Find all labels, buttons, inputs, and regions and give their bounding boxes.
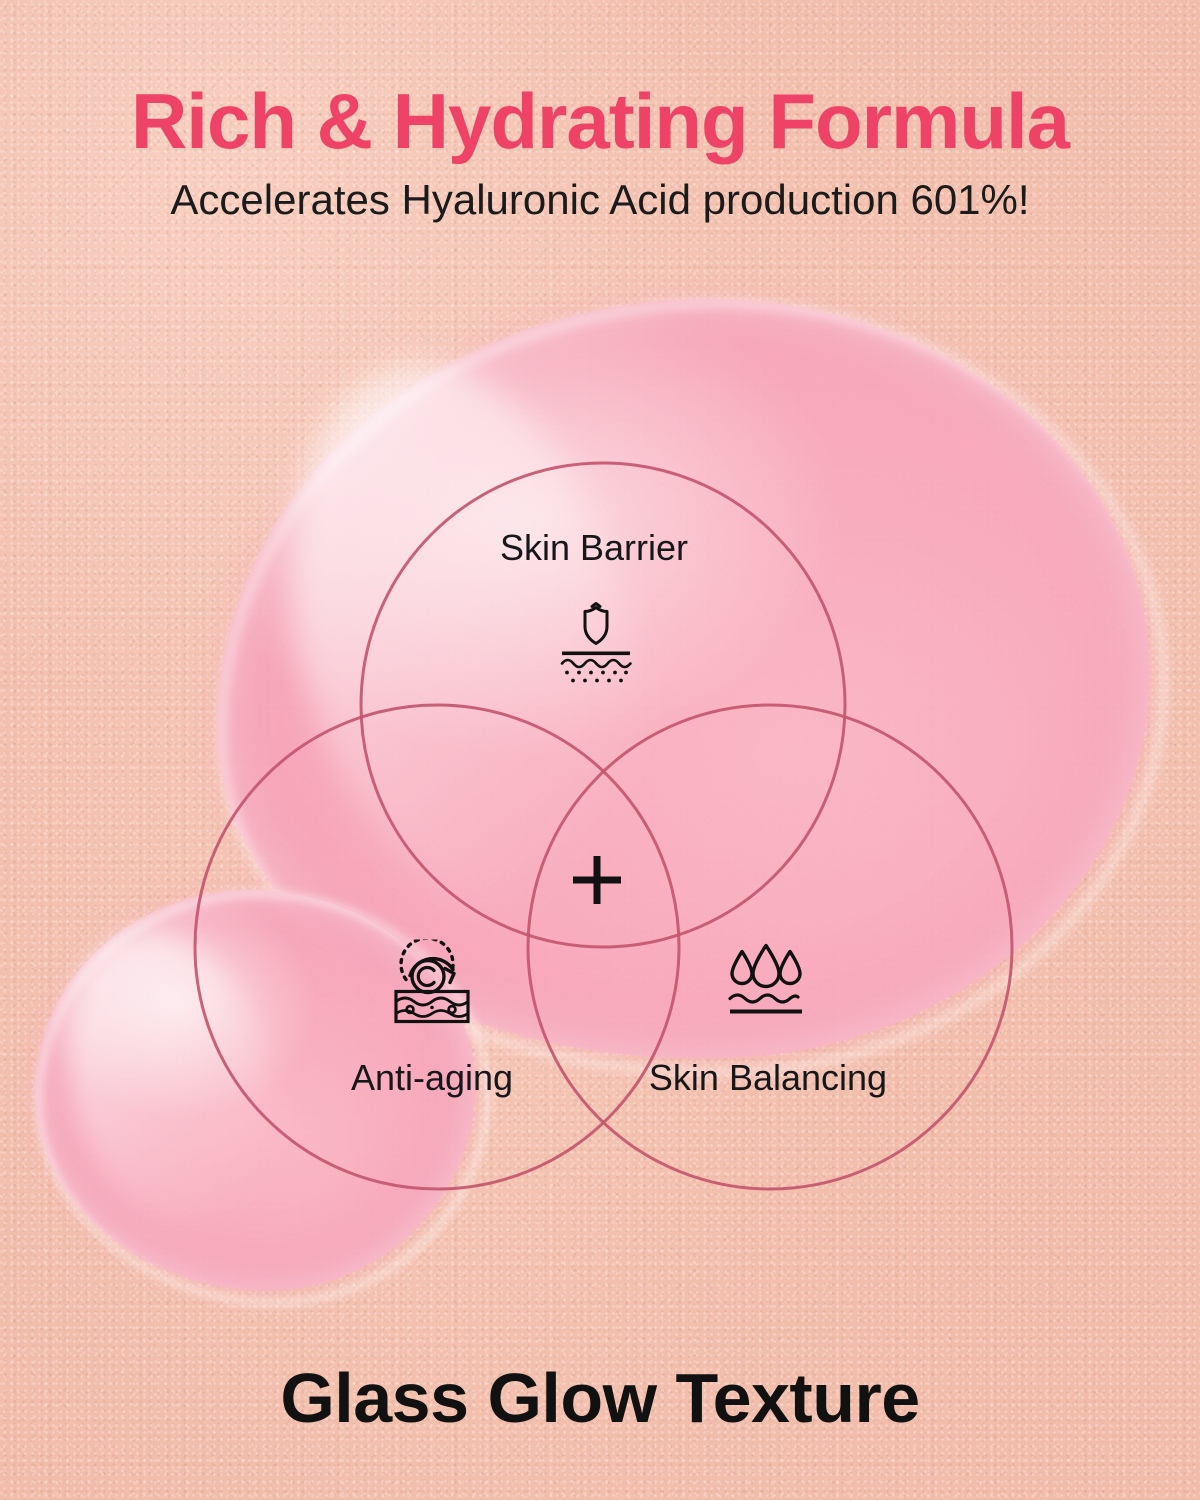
page-subtitle: Accelerates Hyaluronic Acid production 6… [0, 176, 1200, 224]
plus-icon [569, 852, 625, 908]
shield-over-skin-layers-icon [550, 602, 642, 689]
footer-caption: Glass Glow Texture [0, 1358, 1200, 1438]
venn-label-anti-aging: Anti-aging [351, 1057, 513, 1099]
water-droplets-over-skin-icon [722, 944, 810, 1027]
venn-label-skin-balancing: Skin Balancing [649, 1057, 887, 1099]
collagen-renewal-skin-icon [386, 940, 478, 1031]
venn-label-skin-barrier: Skin Barrier [500, 527, 688, 569]
promo-graphic: Rich & Hydrating Formula Accelerates Hya… [0, 0, 1200, 1500]
page-title: Rich & Hydrating Formula [0, 76, 1200, 167]
